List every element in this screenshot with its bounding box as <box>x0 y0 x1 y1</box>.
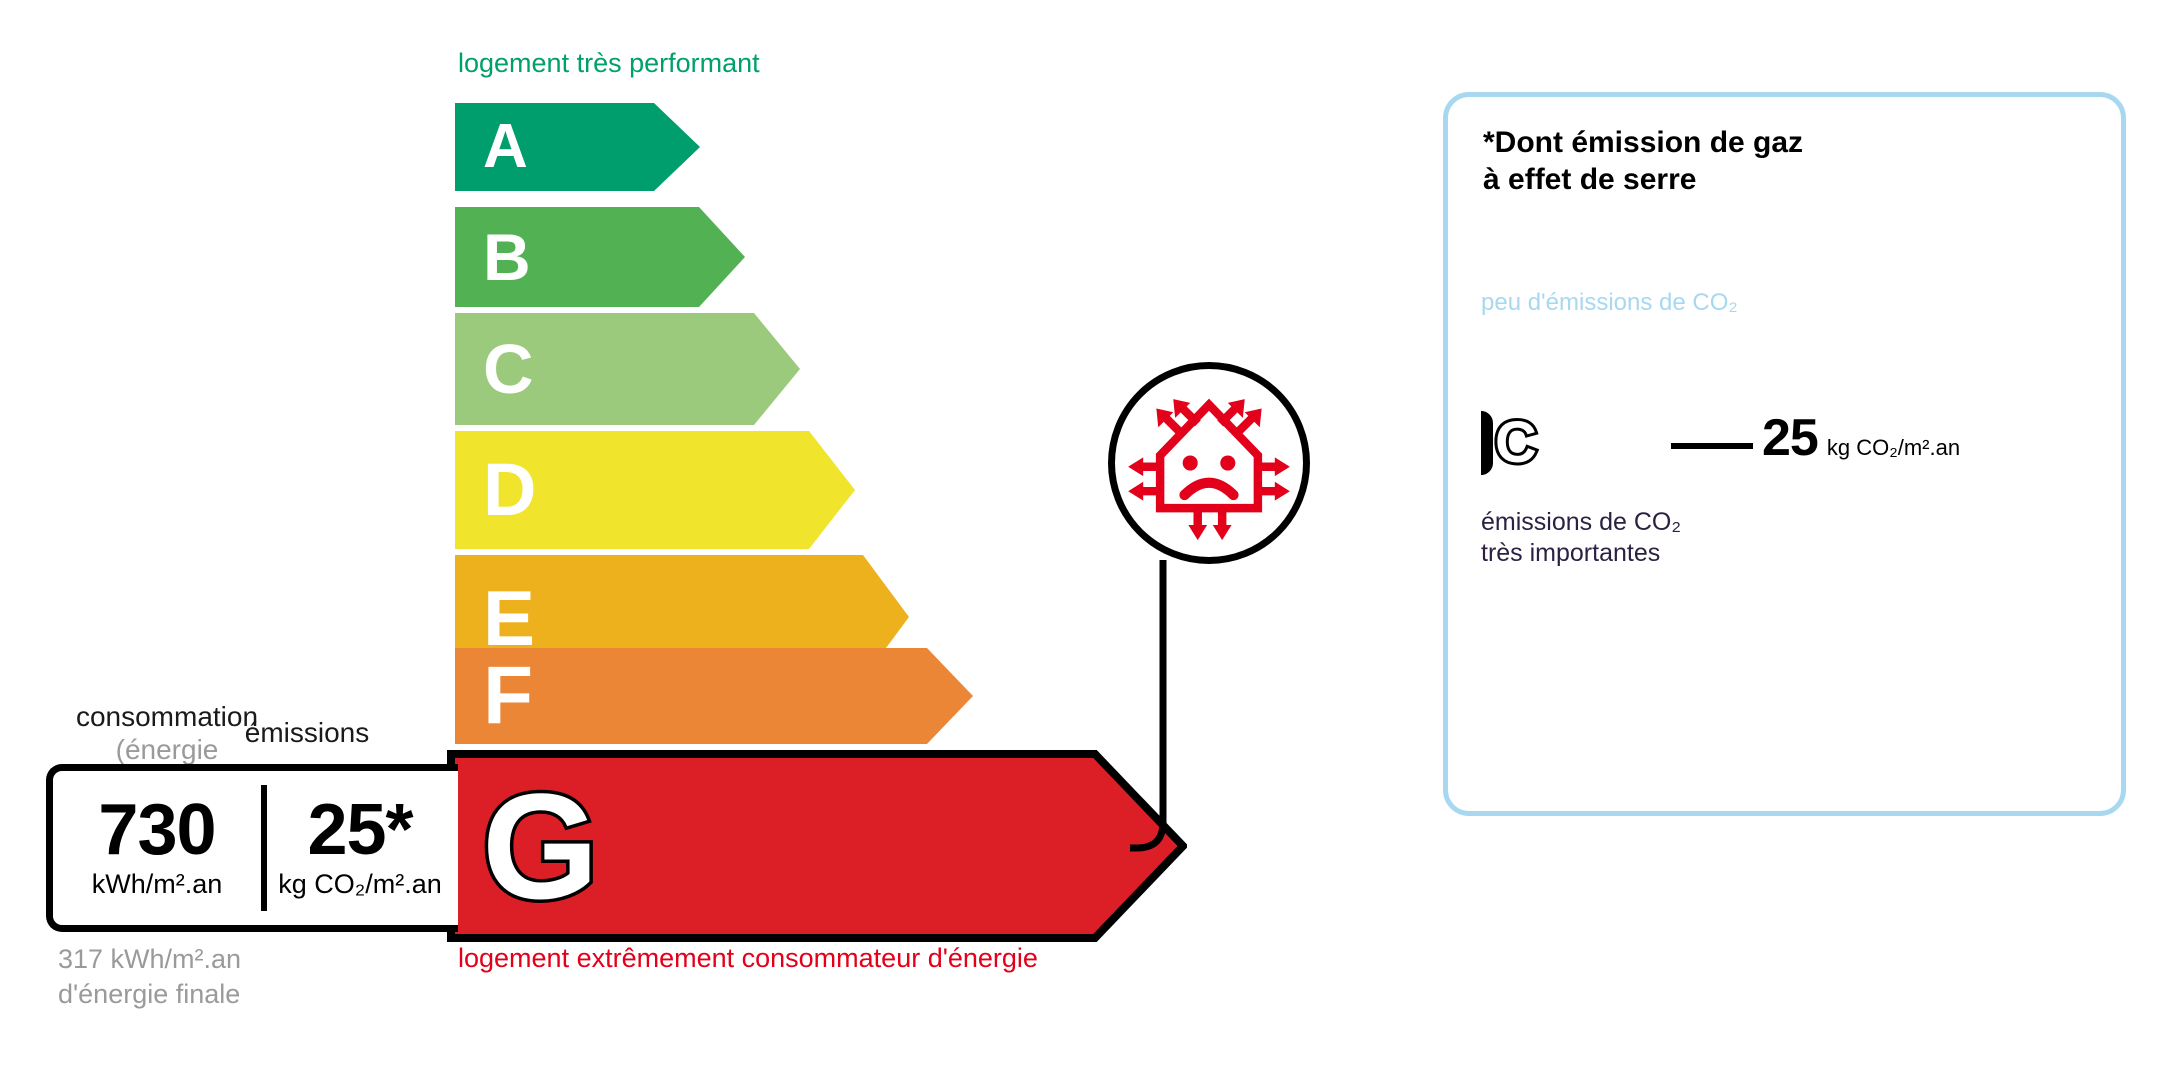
co2-bottom-caption-line1: émissions de CO₂ <box>1481 507 1681 538</box>
energy-grade-letter-e: E <box>483 579 535 657</box>
energy-loss-badge <box>1108 362 1310 564</box>
energy-grade-c[interactable]: C <box>455 313 800 425</box>
co2-leader-line <box>1671 443 1753 449</box>
energy-arrow-shape: F <box>455 648 973 744</box>
co2-bottom-caption-line2: très importantes <box>1481 538 1681 569</box>
co2-value-number: 25 <box>1762 412 1818 464</box>
energy-arrow-tip <box>654 103 700 191</box>
energy-grade-b[interactable]: B <box>455 207 745 307</box>
energy-arrow-tip <box>927 648 973 744</box>
energy-arrow-shape: B <box>455 207 745 307</box>
sad-house-energy-loss-icon <box>1115 369 1303 557</box>
emissions-value: 25* <box>307 796 412 864</box>
energy-arrow-tip <box>809 431 855 549</box>
energy-arrow-tip <box>699 207 745 307</box>
energy-grade-letter-c: C <box>483 334 534 404</box>
energy-grade-d[interactable]: D <box>455 431 855 549</box>
energy-arrow-shape: A <box>455 103 700 191</box>
energy-grade-g-letter: G <box>482 771 599 921</box>
energy-grade-letter-d: D <box>483 453 536 527</box>
energy-arrow-tip <box>754 313 800 425</box>
badge-connector-line <box>1130 560 1240 860</box>
final-energy-line1: 317 kWh/m².an <box>58 942 241 977</box>
consumption-value-cell: 730 kWh/m².an <box>53 771 261 925</box>
co2-grade-b[interactable]: B <box>1481 363 1624 407</box>
co2-grade-letter-g: G <box>1493 630 1519 664</box>
consumption-unit: kWh/m².an <box>92 869 223 900</box>
co2-title-line1: *Dont émission de gaz <box>1483 125 1803 162</box>
energy-arrow-shape: C <box>455 313 800 425</box>
energy-arrow-shape: D <box>455 431 855 549</box>
emissions-unit: kg CO₂/m².an <box>278 869 442 900</box>
co2-bottom-caption: émissions de CO₂ très importantes <box>1481 507 1681 568</box>
co2-top-caption: peu d'émissions de CO₂ <box>1481 289 1738 317</box>
co2-grade-letter-f: F <box>1493 580 1514 614</box>
energy-grade-letter-f: F <box>483 655 533 737</box>
energy-grade-g-selected[interactable]: G <box>447 750 1187 942</box>
eye-right <box>1220 455 1235 470</box>
co2-grade-letter-c: C <box>1495 414 1537 472</box>
co2-panel-title: *Dont émission de gaz à effet de serre <box>1483 125 1803 198</box>
energy-performance-chart: logement très performant ABCDEF G logeme… <box>0 0 1330 1079</box>
energy-grade-letter-a: A <box>483 116 528 178</box>
co2-grade-a[interactable]: A <box>1481 319 1585 359</box>
value-box: 730 kWh/m².an 25* kg CO₂/m².an <box>46 764 458 932</box>
co2-grade-g[interactable]: G <box>1481 623 1794 671</box>
co2-title-line2: à effet de serre <box>1483 162 1803 199</box>
co2-value-annotation: 25 kg CO₂/m².an <box>1762 412 1960 464</box>
co2-value-unit: kg CO₂/m².an <box>1827 435 1960 461</box>
energy-grade-a[interactable]: A <box>455 103 700 191</box>
energy-top-caption: logement très performant <box>458 48 760 79</box>
final-energy-note: 317 kWh/m².an d'énergie finale <box>58 942 241 1011</box>
co2-grade-f[interactable]: F <box>1481 575 1764 619</box>
sad-mouth <box>1185 483 1234 495</box>
energy-grade-f[interactable]: F <box>455 648 973 744</box>
co2-grade-letter-a: A <box>1493 322 1518 356</box>
consumption-value: 730 <box>98 796 215 864</box>
co2-grade-letter-b: B <box>1493 368 1518 402</box>
co2-bar-shape <box>1481 411 1493 475</box>
final-energy-line2: d'énergie finale <box>58 977 241 1012</box>
co2-grade-c[interactable]: C <box>1481 411 1666 475</box>
energy-bottom-caption: logement extrêmement consommateur d'éner… <box>458 943 1038 974</box>
emissions-value-cell: 25* kg CO₂/m².an <box>265 771 455 925</box>
energy-grade-letter-b: B <box>483 224 531 290</box>
emissions-label: émissions <box>212 717 402 749</box>
eye-left <box>1183 455 1198 470</box>
